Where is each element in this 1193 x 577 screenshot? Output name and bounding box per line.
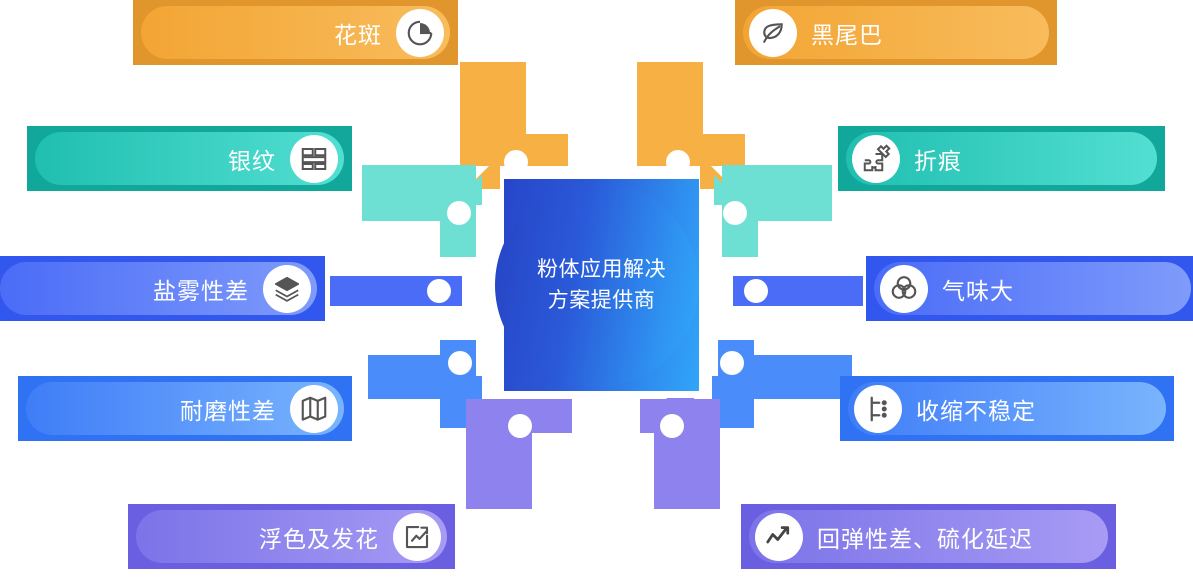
connector-dot-fuse [508,414,532,438]
center-label: 粉体应用解决 方案提供商 [504,179,699,391]
node-pill-huaban[interactable]: 花斑 [133,0,458,65]
node-pill-heiweiba[interactable]: 黑尾巴 [735,0,1057,65]
infographic-canvas: 粉体应用解决 方案提供商 花斑 [0,0,1193,577]
center-label-line1: 粉体应用解决 [537,254,666,285]
center-node[interactable]: 粉体应用解决 方案提供商 [504,179,699,391]
pie-chart-icon [396,9,444,57]
connector-band-shousuo [746,355,852,399]
connector-dot-huaban [504,150,528,174]
node-pill-yinwen[interactable]: 银纹 [27,126,352,191]
pill-label: 气味大 [942,272,1014,306]
node-pill-zhehen[interactable]: 折痕 [838,126,1165,191]
pill-label: 浮色及发花 [259,520,379,554]
connector-dot-naimo [448,351,472,375]
trending-up-box-icon [393,513,441,561]
node-pill-naimoxingcha[interactable]: 耐磨性差 [18,376,352,441]
center-label-line2: 方案提供商 [548,285,656,316]
brick-wall-icon [290,135,338,183]
pill-label: 银纹 [228,142,276,176]
pill-label: 花斑 [334,16,382,50]
leaf-icon [749,9,797,57]
pill-label: 回弹性差、硫化延迟 [817,520,1033,554]
connector-dot-huitan [660,414,684,438]
connector-dot-heiweiba [666,150,690,174]
recycle-icon [880,265,928,313]
puzzle-icon [852,135,900,183]
node-pill-yanwuxingcha[interactable]: 盐雾性差 [0,256,325,321]
connector-dot-shousuo [720,351,744,375]
layers-icon [263,265,311,313]
pill-label: 耐磨性差 [180,392,276,426]
connector-dot-yanwu [427,279,451,303]
pill-label: 折痕 [914,142,962,176]
pill-label: 黑尾巴 [811,16,883,50]
connector-elbow-heiweiba [637,134,745,166]
connector-dot-yinwen [447,201,471,225]
line-chart-icon [755,513,803,561]
connector-dot-zhehen [723,201,747,225]
node-pill-huitanxingcha[interactable]: 回弹性差、硫化延迟 [741,504,1116,569]
sitemap-icon [854,385,902,433]
pill-label: 收缩不稳定 [916,392,1036,426]
connector-dot-qiweida [744,279,768,303]
node-pill-shousuobuwending[interactable]: 收缩不稳定 [840,376,1174,441]
node-pill-fusejifahua[interactable]: 浮色及发花 [128,504,455,569]
pill-label: 盐雾性差 [153,272,249,306]
node-pill-qiweida[interactable]: 气味大 [866,256,1193,321]
map-icon [290,385,338,433]
